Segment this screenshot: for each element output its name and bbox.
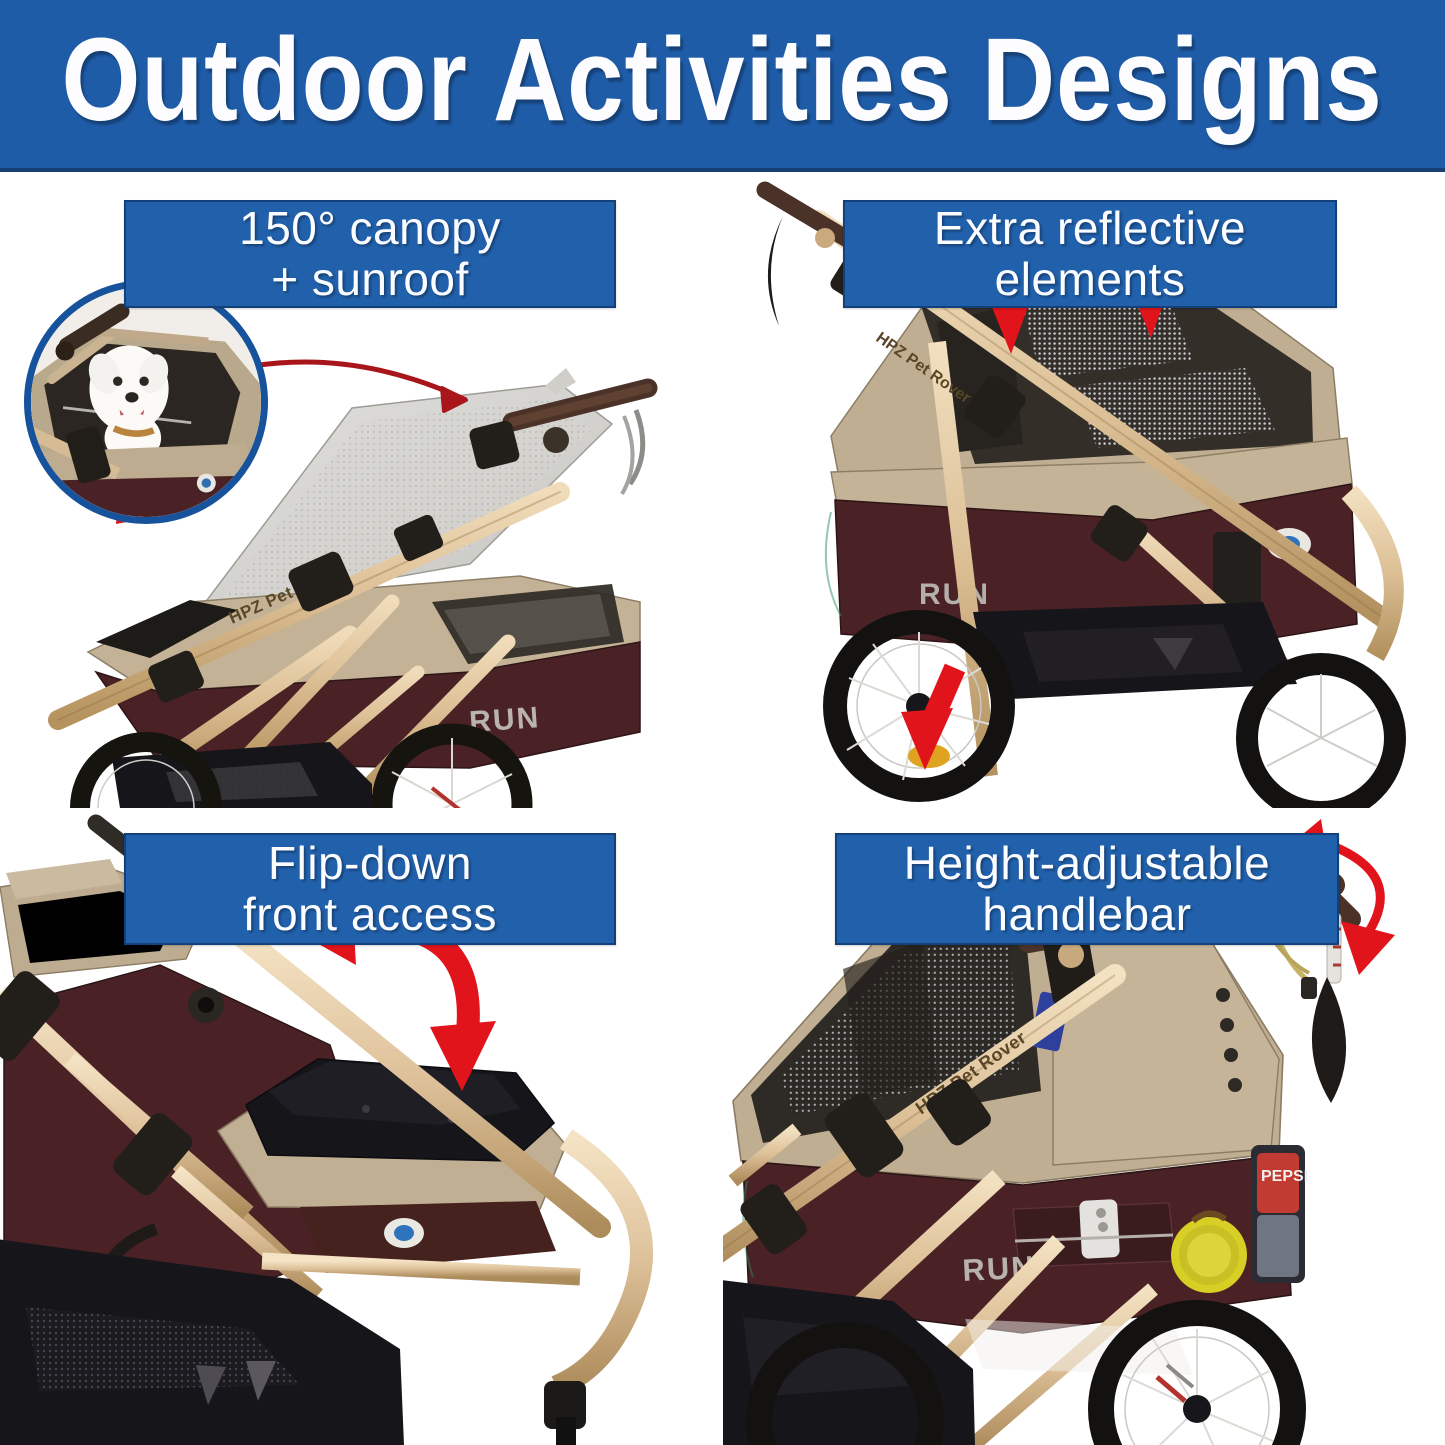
feature-panel-front-access: Flip-down front access bbox=[0, 809, 722, 1445]
caption-reflective: Extra reflective elements bbox=[843, 200, 1337, 308]
feature-panel-reflective: RUN HPZ Pet Rover bbox=[723, 172, 1445, 808]
caption-front-access: Flip-down front access bbox=[124, 833, 616, 945]
wheel-reflector-arrow bbox=[901, 668, 955, 770]
caption-front-access-text: Flip-down front access bbox=[229, 834, 511, 943]
feature-panel-handlebar: RUN PEPSI bbox=[723, 809, 1445, 1445]
header-banner: Outdoor Activities Designs bbox=[0, 0, 1445, 172]
feature-panel-canopy: RUN HPZ Pet Rover bbox=[0, 172, 722, 808]
dog-inset-photo bbox=[24, 280, 268, 524]
feature-grid: RUN HPZ Pet Rover bbox=[0, 172, 1445, 1445]
caption-canopy-text: 150° canopy + sunroof bbox=[225, 199, 515, 308]
caption-handlebar-text: Height-adjustable handlebar bbox=[890, 834, 1285, 943]
page-title: Outdoor Activities Designs bbox=[62, 21, 1383, 147]
dog-inset-artwork bbox=[31, 287, 261, 517]
caption-canopy: 150° canopy + sunroof bbox=[124, 200, 616, 308]
caption-reflective-text: Extra reflective elements bbox=[920, 199, 1260, 308]
infographic-page: Outdoor Activities Designs bbox=[0, 0, 1445, 1445]
caption-handlebar: Height-adjustable handlebar bbox=[835, 833, 1339, 945]
